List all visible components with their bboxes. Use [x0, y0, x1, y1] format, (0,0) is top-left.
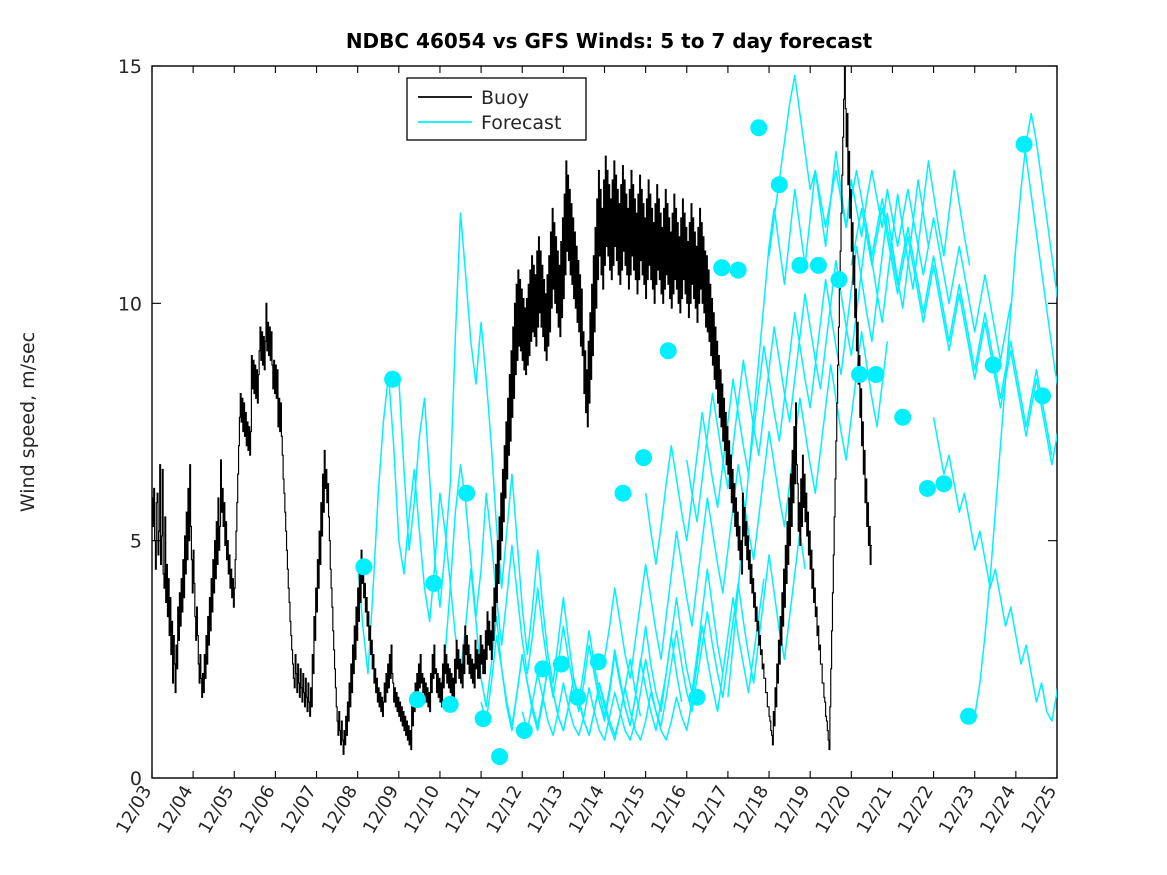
forecast-point	[935, 475, 952, 492]
forecast-point	[355, 558, 372, 575]
forecast-point	[810, 257, 827, 274]
forecast-point	[791, 257, 808, 274]
forecast-point	[384, 371, 401, 388]
forecast-point	[919, 480, 936, 497]
forecast-point	[960, 708, 977, 725]
forecast-point	[851, 366, 868, 383]
forecast-point	[713, 259, 730, 276]
forecast-point	[442, 696, 459, 713]
forecast-point	[475, 710, 492, 727]
forecast-point	[1034, 387, 1051, 404]
forecast-point	[491, 748, 508, 765]
y-tick-label: 5	[130, 531, 142, 553]
forecast-point	[590, 653, 607, 670]
chart-legend[interactable]: Buoy Forecast	[407, 78, 586, 140]
forecast-point	[409, 691, 426, 708]
forecast-point	[425, 575, 442, 592]
page-title: NDBC 46054 vs GFS Winds: 5 to 7 day fore…	[346, 29, 873, 53]
y-tick-label: 0	[130, 768, 142, 790]
legend-label-forecast: Forecast	[481, 112, 561, 134]
wind-speed-chart: NDBC 46054 vs GFS Winds: 5 to 7 day fore…	[0, 0, 1167, 875]
figure-canvas: NDBC 46054 vs GFS Winds: 5 to 7 day fore…	[0, 0, 1167, 875]
forecast-point	[553, 656, 570, 673]
forecast-point	[534, 660, 551, 677]
forecast-point	[660, 342, 677, 359]
forecast-point	[516, 722, 533, 739]
forecast-point	[635, 449, 652, 466]
forecast-point	[458, 485, 475, 502]
forecast-point	[689, 689, 706, 706]
forecast-point	[771, 176, 788, 193]
forecast-point	[868, 366, 885, 383]
legend-label-buoy: Buoy	[481, 87, 529, 109]
forecast-point	[730, 262, 747, 279]
y-tick-label: 15	[118, 56, 142, 78]
forecast-point	[615, 485, 632, 502]
forecast-point	[894, 409, 911, 426]
forecast-point	[750, 119, 767, 136]
forecast-point	[985, 357, 1002, 374]
forecast-point	[830, 271, 847, 288]
y-axis-label: Wind speed, m/sec	[17, 332, 39, 512]
forecast-point	[1016, 136, 1033, 153]
forecast-point	[569, 689, 586, 706]
y-tick-label: 10	[118, 293, 142, 315]
